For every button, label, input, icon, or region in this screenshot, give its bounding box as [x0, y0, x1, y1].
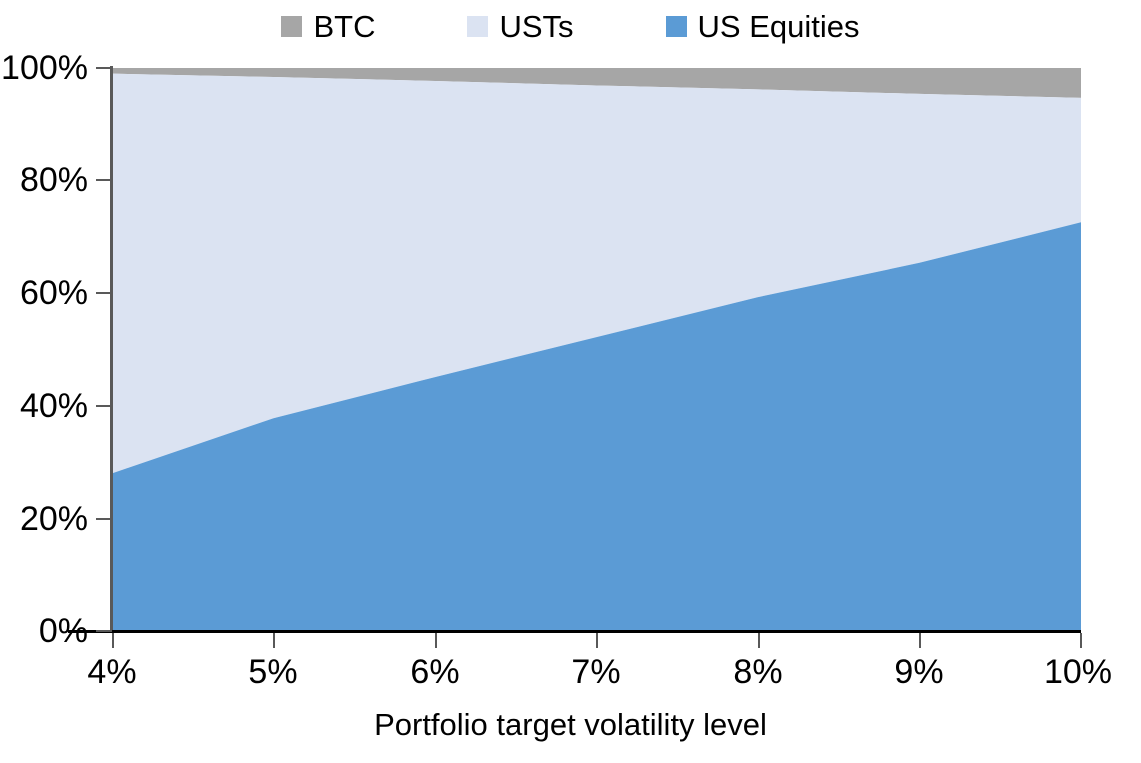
x-tick-8	[758, 633, 760, 648]
y-tick-40	[96, 405, 112, 407]
plot-area	[112, 68, 1081, 631]
y-tick-label-80: 80%	[20, 163, 88, 197]
y-tick-label-60: 60%	[20, 276, 88, 310]
x-axis-title: Portfolio target volatility level	[0, 709, 1141, 740]
x-tick-5	[273, 633, 275, 648]
y-tick-100	[96, 67, 112, 69]
x-tick-7	[596, 633, 598, 648]
x-tick-label-8: 8%	[733, 655, 782, 689]
x-tick-10	[1080, 633, 1082, 648]
legend-item-usts[interactable]: USTs	[467, 11, 573, 42]
stacked-area-chart: BTC USTs US Equities 100% 80% 60% 40% 20…	[0, 0, 1141, 763]
chart-legend: BTC USTs US Equities	[0, 6, 1141, 46]
x-tick-label-9: 9%	[894, 655, 943, 689]
y-tick-0	[96, 630, 112, 632]
y-axis-line	[110, 66, 113, 633]
legend-swatch-usts	[467, 16, 488, 37]
y-tick-80	[96, 179, 112, 181]
area-series-svg	[112, 68, 1081, 631]
x-tick-label-6: 6%	[410, 655, 459, 689]
x-tick-4	[112, 633, 114, 648]
legend-item-btc[interactable]: BTC	[281, 11, 375, 42]
x-tick-label-10: 10%	[1044, 655, 1112, 689]
y-tick-60	[96, 292, 112, 294]
y-tick-label-40: 40%	[20, 389, 88, 423]
y-tick-label-0: 0%	[39, 614, 88, 648]
x-tick-label-4: 4%	[87, 655, 136, 689]
legend-label-us-equities: US Equities	[698, 11, 860, 42]
x-tick-6	[435, 633, 437, 648]
x-axis-line	[68, 630, 1081, 633]
legend-item-us-equities[interactable]: US Equities	[666, 11, 860, 42]
y-tick-20	[96, 518, 112, 520]
y-tick-label-100: 100%	[1, 51, 88, 85]
x-tick-9	[919, 633, 921, 648]
y-tick-label-20: 20%	[20, 502, 88, 536]
legend-swatch-us-equities	[666, 16, 687, 37]
legend-swatch-btc	[281, 16, 302, 37]
x-tick-label-5: 5%	[248, 655, 297, 689]
legend-label-btc: BTC	[313, 11, 375, 42]
x-tick-label-7: 7%	[571, 655, 620, 689]
legend-label-usts: USTs	[499, 11, 573, 42]
